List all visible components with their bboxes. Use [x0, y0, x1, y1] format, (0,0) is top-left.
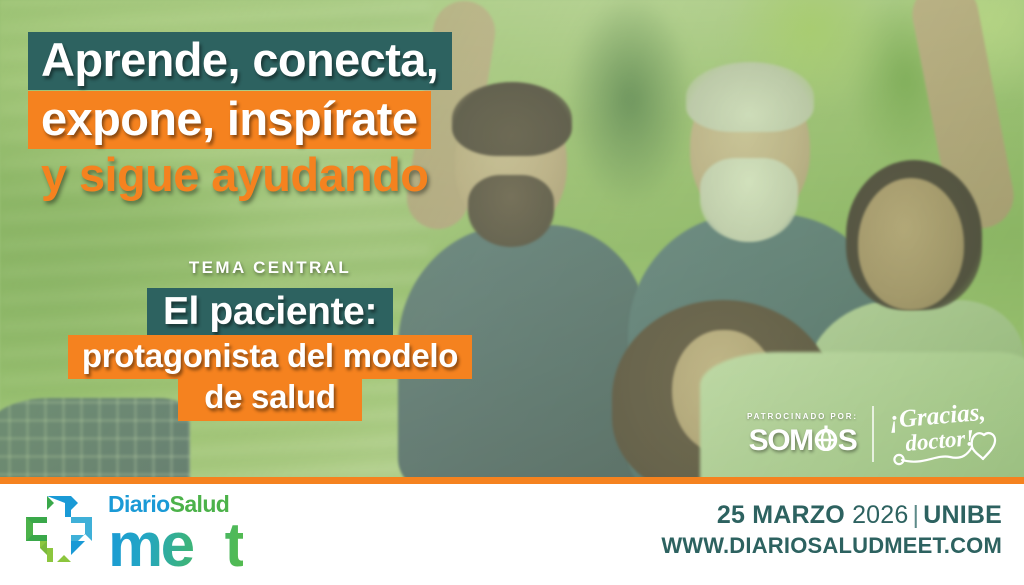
sponsors-area: PATROCINADO POR: SOMS ¡Gracias, doctor!: [747, 402, 1006, 466]
svg-text:doctor!: doctor!: [904, 425, 975, 456]
central-theme-block: TEMA CENTRAL El paciente: protagonista d…: [0, 258, 540, 421]
somos-logo-prefix: SOM: [749, 426, 813, 456]
event-venue: UNIBE: [923, 501, 1002, 529]
gracias-doctor-logo: ¡Gracias, doctor!: [888, 402, 1006, 466]
diariosalud-meet-logo[interactable]: DiarioSalud meet: [22, 490, 243, 573]
meet-letter-e2-reversed: e: [193, 517, 225, 575]
meet-letter-e1: e: [161, 517, 193, 575]
event-date-venue: 25 MARZO 2026|UNIBE: [661, 500, 1002, 530]
central-theme-line-3: de salud: [178, 376, 361, 421]
somos-logo: SOMS: [747, 425, 858, 457]
sponsor-divider: [872, 406, 874, 462]
event-website-url[interactable]: WWW.DIARIOSALUDMEET.COM: [661, 533, 1002, 559]
meet-letter-t: t: [225, 517, 243, 575]
event-promo-banner: Aprende, conecta, expone, inspírate y si…: [0, 0, 1024, 585]
central-theme-line-3-wrap: de salud: [0, 376, 540, 421]
central-theme-line-2-wrap: protagonista del modelo: [0, 335, 540, 379]
central-theme-line-2: protagonista del modelo: [68, 335, 472, 379]
somos-sponsor: PATROCINADO POR: SOMS: [747, 412, 858, 457]
event-year: 2026: [852, 501, 908, 529]
somos-globe-icon: [814, 425, 838, 457]
orange-divider-rule: [0, 477, 1024, 484]
footer-bar: DiarioSalud meet 25 MARZO 2026|UNIBE WWW…: [0, 484, 1024, 585]
somos-logo-suffix: S: [838, 426, 857, 456]
event-details: 25 MARZO 2026|UNIBE WWW.DIARIOSALUDMEET.…: [661, 500, 1002, 559]
logo-wordmark: DiarioSalud meet: [108, 492, 243, 575]
central-theme-line-1: El paciente:: [147, 288, 393, 337]
headline-line-3: y sigue ayudando: [41, 150, 428, 200]
meet-wordmark: meet: [108, 517, 243, 575]
patrocinado-por-label: PATROCINADO POR:: [747, 412, 858, 421]
headline-line-1: Aprende, conecta,: [28, 32, 452, 90]
medical-cross-icon: [22, 492, 96, 571]
event-day-month: 25 MARZO: [717, 501, 845, 529]
date-venue-separator: |: [909, 501, 924, 529]
central-theme-label: TEMA CENTRAL: [0, 258, 540, 278]
headline-line-2: expone, inspírate: [28, 91, 431, 149]
meet-letter-m: m: [108, 517, 161, 575]
